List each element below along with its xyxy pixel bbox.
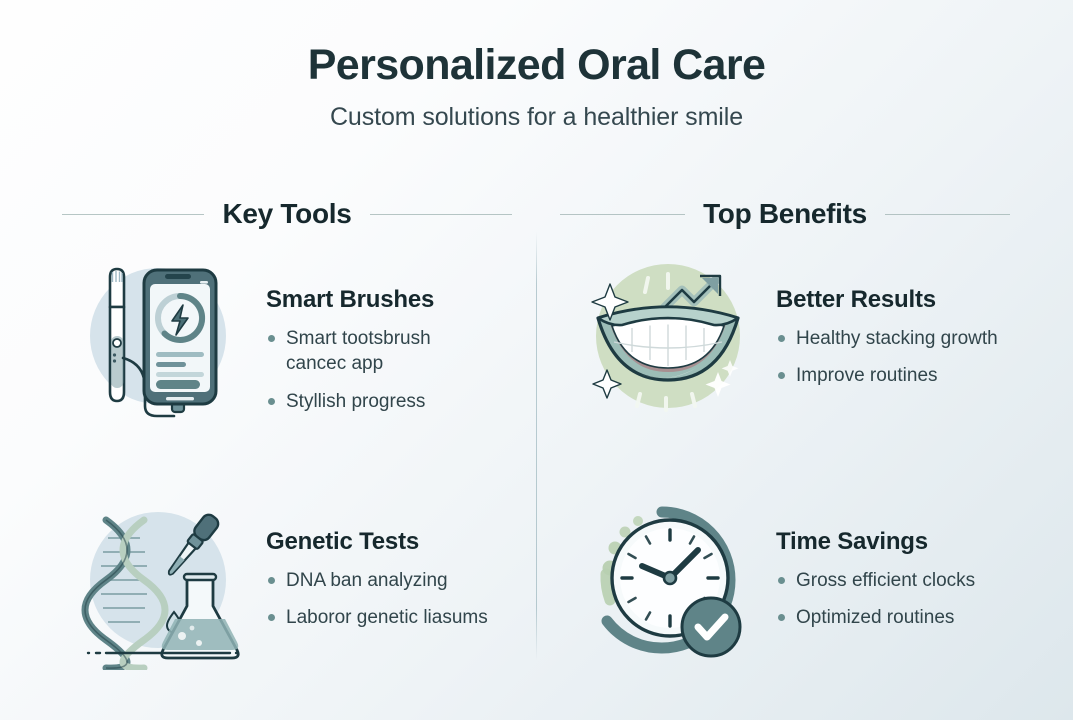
infographic-page: Personalized Oral Care Custom solutions …: [0, 0, 1073, 720]
bullet-list: Smart tootsbrush cancec app Styllish pro…: [266, 326, 491, 414]
column-top-benefits: Better Results Healthy stacking growth I…: [536, 248, 1072, 670]
item-text: Better Results Healthy stacking growth I…: [776, 248, 998, 389]
section-heading-top-benefits: Top Benefits: [536, 190, 1072, 238]
clock-checkmark-icon: [580, 490, 760, 670]
list-item: Gross efficient clocks: [776, 568, 975, 593]
rule-left: [560, 214, 685, 215]
item-text: Genetic Tests DNA ban analyzing Laboror …: [266, 490, 488, 631]
item-text: Smart Brushes Smart tootsbrush cancec ap…: [266, 248, 491, 414]
item-genetic-tests: Genetic Tests DNA ban analyzing Laboror …: [70, 490, 518, 670]
list-item: Laboror genetic liasums: [266, 605, 488, 630]
bullet-list: DNA ban analyzing Laboror genetic liasum…: [266, 568, 488, 631]
item-title: Genetic Tests: [266, 528, 488, 556]
section-headings: Key Tools Top Benefits: [0, 190, 1073, 238]
section-heading-key-tools: Key Tools: [0, 190, 536, 238]
list-item: Optimized routines: [776, 605, 975, 630]
content-items: Smart Brushes Smart tootsbrush cancec ap…: [0, 248, 1073, 670]
rule-left: [62, 214, 204, 215]
list-item: Healthy stacking growth: [776, 326, 998, 351]
bullet-list: Healthy stacking growth Improve routines: [776, 326, 998, 389]
rule-right: [370, 214, 512, 215]
column-key-tools: Smart Brushes Smart tootsbrush cancec ap…: [0, 248, 536, 670]
smile-growth-arrow-icon: [580, 248, 760, 428]
section-title-right: Top Benefits: [703, 198, 867, 230]
list-item: Improve routines: [776, 363, 998, 388]
page-subtitle: Custom solutions for a healthier smile: [0, 103, 1073, 132]
bullet-list: Gross efficient clocks Optimized routine…: [776, 568, 975, 631]
list-item: Styllish progress: [266, 389, 491, 414]
item-title: Better Results: [776, 286, 998, 314]
dna-flask-pipette-icon: [70, 490, 250, 670]
item-time-savings: Time Savings Gross efficient clocks Opti…: [580, 490, 1048, 670]
item-better-results: Better Results Healthy stacking growth I…: [580, 248, 1048, 428]
item-text: Time Savings Gross efficient clocks Opti…: [776, 490, 975, 631]
page-title: Personalized Oral Care: [0, 42, 1073, 89]
section-title-left: Key Tools: [222, 198, 351, 230]
header: Personalized Oral Care Custom solutions …: [0, 0, 1073, 132]
smart-toothbrush-phone-icon: [70, 248, 250, 428]
rule-right: [885, 214, 1010, 215]
item-smart-brushes: Smart Brushes Smart tootsbrush cancec ap…: [70, 248, 518, 428]
item-title: Time Savings: [776, 528, 975, 556]
list-item: DNA ban analyzing: [266, 568, 488, 593]
list-item: Smart tootsbrush cancec app: [266, 326, 491, 377]
item-title: Smart Brushes: [266, 286, 491, 314]
